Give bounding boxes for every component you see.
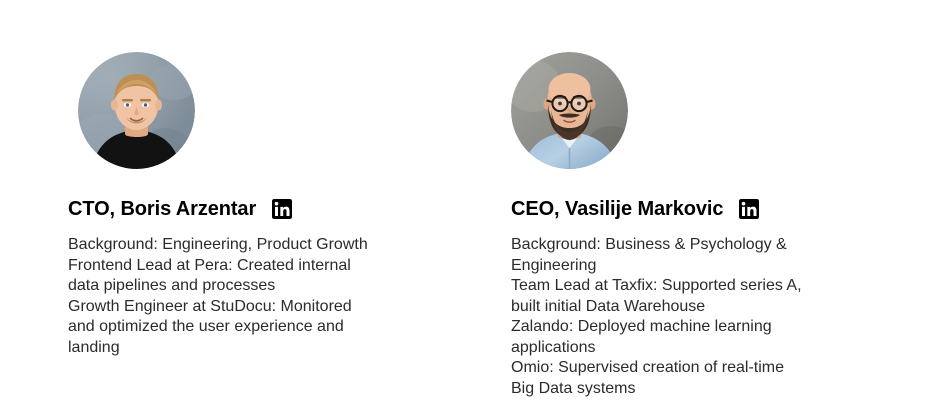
person-name: CEO, Vasilije Markovic xyxy=(511,197,723,221)
headline-vasilije-markovic: CEO, Vasilije Markovic xyxy=(511,197,759,221)
bio-line: Team Lead at Taxfix: Supported series A, xyxy=(511,276,861,297)
bio-line: landing xyxy=(68,338,413,359)
bio-line: built initial Data Warehouse xyxy=(511,297,861,318)
bio-line: Background: Engineering, Product Growth xyxy=(68,235,413,256)
bio-line: data pipelines and processes xyxy=(68,276,413,297)
bio-line: Engineering xyxy=(511,256,861,277)
linkedin-icon[interactable] xyxy=(739,199,759,219)
bio-line: Zalando: Deployed machine learning xyxy=(511,317,861,338)
bio-boris-arzentar: Background: Engineering, Product Growth … xyxy=(68,235,413,358)
headline-boris-arzentar: CTO, Boris Arzentar xyxy=(68,197,292,221)
bio-line: Frontend Lead at Pera: Created internal xyxy=(68,256,413,277)
person-card-boris-arzentar: CTO, Boris Arzentar Background: Engineer… xyxy=(68,0,468,412)
bio-line: Omio: Supervised creation of real-time xyxy=(511,358,861,379)
person-name: CTO, Boris Arzentar xyxy=(68,197,256,221)
bio-line: Background: Business & Psychology & xyxy=(511,235,861,256)
linkedin-icon[interactable] xyxy=(272,199,292,219)
bio-line: Big Data systems xyxy=(511,379,861,400)
bio-line: and optimized the user experience and xyxy=(68,317,413,338)
avatar-boris-arzentar xyxy=(78,52,195,169)
person-card-vasilije-markovic: CEO, Vasilije Markovic Background: Busin… xyxy=(511,0,911,412)
bio-line: Growth Engineer at StuDocu: Monitored xyxy=(68,297,413,318)
team-bios-board: CTO, Boris Arzentar Background: Engineer… xyxy=(0,0,948,412)
bio-line: applications xyxy=(511,338,861,359)
bio-vasilije-markovic: Background: Business & Psychology & Engi… xyxy=(511,235,861,399)
avatar-vasilije-markovic xyxy=(511,52,628,169)
